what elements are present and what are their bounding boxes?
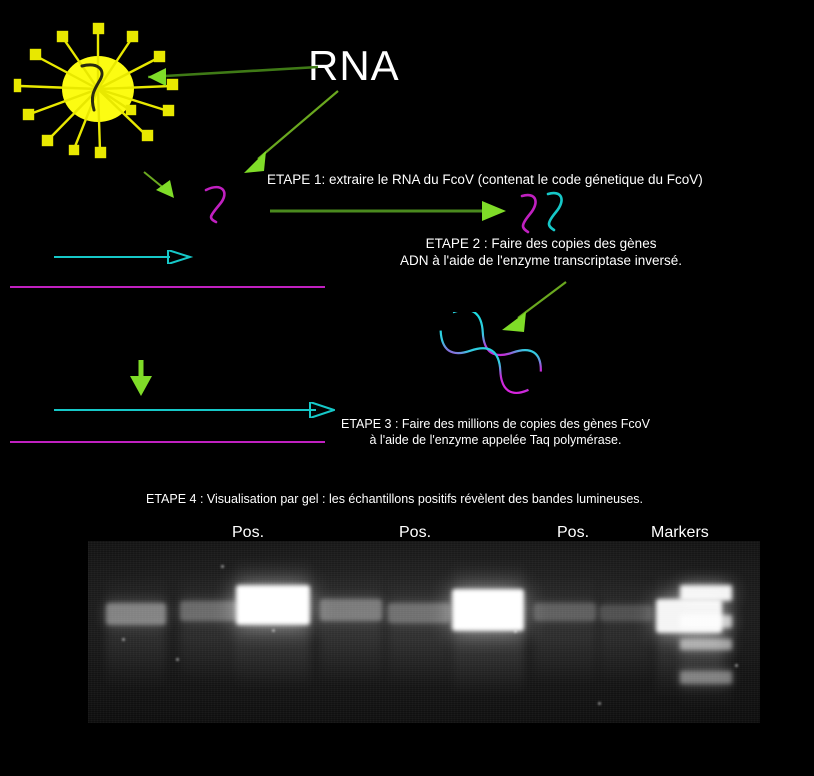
gel-speck [514, 630, 517, 633]
etape3-label: ETAPE 3 : Faire des millions de copies d… [341, 417, 650, 448]
gel-label-pos: Pos. [557, 523, 589, 543]
virus-spikes [8, 18, 188, 173]
gel-speck [221, 565, 224, 568]
gel-label-pos: Pos. [399, 523, 431, 543]
gel-label-pos: Pos. [232, 523, 264, 543]
gel-speck [272, 629, 275, 632]
etape1-arrow [268, 200, 512, 222]
gel-speck [735, 664, 738, 667]
etape2-line1: ETAPE 2 : Faire des copies des gènes [400, 236, 682, 253]
diagram-canvas: RNA ETAPE 1: extraire le RNA du FcoV (co… [0, 0, 814, 776]
rna-cdna-strand-pair [512, 188, 570, 238]
cyan-primer-arrow-short [50, 250, 330, 264]
rna-strand-magenta [200, 178, 240, 226]
gel-speck [176, 658, 179, 661]
etape3-line1: ETAPE 3 : Faire des millions de copies d… [341, 417, 650, 433]
coronavirus-particle [8, 18, 188, 173]
etape3-line2: à l'aide de l'enzyme appelée Taq polymér… [341, 433, 650, 449]
extraction-arrow [140, 168, 190, 206]
amplification-arrow-down [126, 358, 156, 398]
gel-speck [122, 638, 125, 641]
rna-to-step1-arrow [230, 85, 350, 180]
gel-noise-overlay [88, 541, 760, 723]
gel-speck [598, 702, 601, 705]
gel-electrophoresis-image [88, 541, 760, 723]
etape4-label: ETAPE 4 : Visualisation par gel : les éc… [146, 492, 643, 508]
magenta-template-strand-1 [10, 286, 325, 288]
gel-label-markers: Markers [651, 523, 709, 543]
etape1-label: ETAPE 1: extraire le RNA du FcoV (conten… [267, 172, 703, 189]
cyan-primer-arrow-long [50, 402, 335, 418]
dna-double-helix [425, 312, 543, 410]
magenta-template-strand-2 [10, 441, 325, 443]
etape2-label: ETAPE 2 : Faire des copies des gènes ADN… [400, 236, 682, 270]
etape2-line2: ADN à l'aide de l'enzyme transcriptase i… [400, 253, 682, 270]
